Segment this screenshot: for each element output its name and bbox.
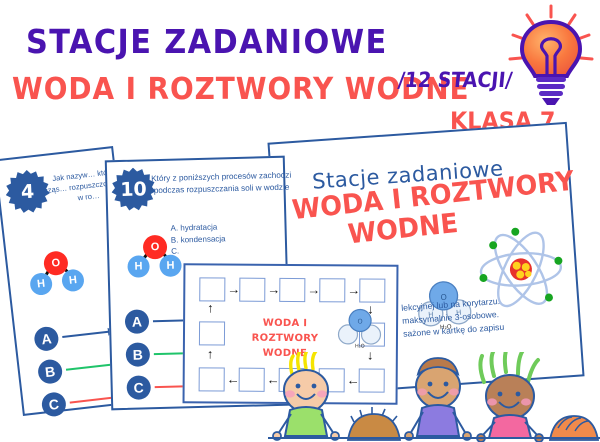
flow-arrow-right: → xyxy=(307,283,320,296)
flow-box[interactable] xyxy=(319,278,345,302)
answer-arrow-a xyxy=(62,330,114,338)
flow-box[interactable] xyxy=(199,321,225,345)
kid-blue-shirt xyxy=(405,358,471,440)
answer-row-a[interactable]: A xyxy=(33,328,36,354)
answer-row-b[interactable]: B xyxy=(126,343,127,369)
hydrogen-atom: H xyxy=(159,254,182,277)
flow-box[interactable] xyxy=(199,277,225,301)
option-circle-c[interactable]: C xyxy=(41,391,68,418)
children-illustration xyxy=(268,352,600,442)
flow-arrow-up: ↑ xyxy=(207,301,214,314)
svg-text:H₂O: H₂O xyxy=(355,343,365,348)
flow-box[interactable] xyxy=(239,368,265,392)
flow-arrow-right: → xyxy=(267,283,280,296)
kid-yellow-hair xyxy=(273,352,339,440)
option-circle-a[interactable]: A xyxy=(33,326,60,353)
answer-row-c[interactable]: C xyxy=(41,394,44,420)
option-circle-a[interactable]: A xyxy=(125,309,150,334)
stations-count-label: /12 STACJI/ xyxy=(397,68,514,92)
kid-brown-hair xyxy=(348,407,400,440)
flow-box[interactable] xyxy=(279,278,305,302)
flow-box[interactable] xyxy=(239,278,265,302)
page-title: STACJE ZADANIOWE xyxy=(26,22,388,61)
water-molecule-icon: O H H xyxy=(27,248,88,298)
card-question: Który z poniższych procesów zachodzi pod… xyxy=(145,169,298,197)
answer-row-c[interactable]: C xyxy=(126,376,127,402)
flow-arrow-right: → xyxy=(347,283,360,296)
option-circle-b[interactable]: B xyxy=(37,358,64,385)
flow-box[interactable] xyxy=(199,367,225,391)
svg-text:O: O xyxy=(357,317,362,325)
option-circle-b[interactable]: B xyxy=(126,342,151,367)
kid-green-braids xyxy=(477,352,543,442)
hydrogen-atom: H xyxy=(29,272,53,296)
flow-arrow-right: → xyxy=(227,283,240,296)
flow-arrow-up: ↑ xyxy=(207,347,214,360)
answer-row-a[interactable]: A xyxy=(125,310,126,336)
flow-label-line1: WODA I ROZTWORY xyxy=(231,316,339,347)
answer-options: A B C xyxy=(125,310,128,409)
hydrogen-atom: H xyxy=(127,255,150,278)
flow-arrow-left: ← xyxy=(227,373,240,386)
answer-text-a: A. hydratacja xyxy=(170,221,225,234)
water-molecule-icon: O H H xyxy=(127,234,184,279)
h2o-molecule-icon: O H₂O xyxy=(337,306,383,348)
kid-orange-hair xyxy=(550,416,598,440)
poster-canvas: STACJE ZADANIOWE WODA I ROZTWORY WODNE /… xyxy=(0,0,600,442)
option-circle-c[interactable]: C xyxy=(126,375,151,400)
answer-options: A B C xyxy=(33,328,44,426)
hydrogen-atom: H xyxy=(61,268,85,292)
flow-box[interactable] xyxy=(359,278,385,302)
answer-row-b[interactable]: B xyxy=(37,361,40,387)
lightbulb-icon xyxy=(505,4,597,112)
